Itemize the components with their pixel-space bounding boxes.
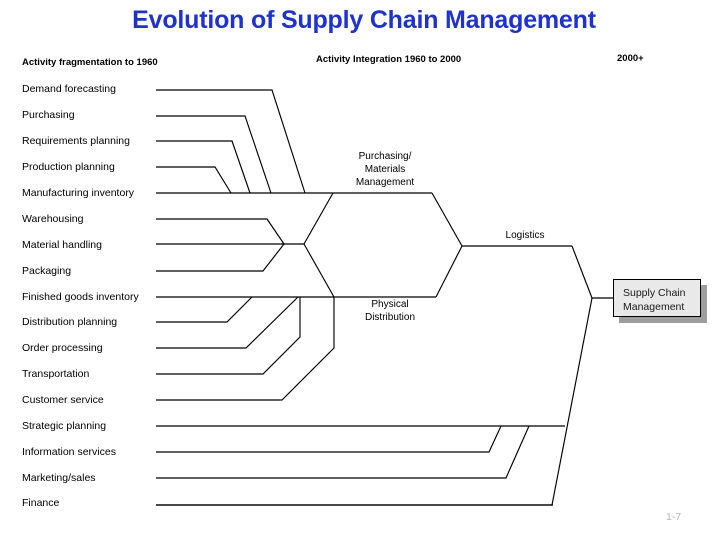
supply-chain-management-text: Supply Chain Management [623, 286, 701, 314]
node-label-pd-line-1: Physical [340, 298, 440, 311]
wire-transportation [156, 297, 300, 374]
wire-packaging [156, 244, 284, 271]
node-label-pmm-line-2: Materials [335, 163, 435, 176]
slide-canvas: Evolution of Supply Chain Management Act… [0, 0, 728, 546]
wire-distribution-planning [156, 297, 252, 322]
wire-warehousing [156, 219, 284, 244]
supply-chain-management-box[interactable]: Supply Chain Management [613, 279, 701, 317]
node-label-logistics: Logistics [480, 229, 570, 242]
scm-line-2: Management [623, 300, 701, 314]
wire-production-planning [156, 167, 231, 193]
wire-purchasing [156, 116, 271, 193]
node-label-pd-line-2: Distribution [340, 311, 440, 324]
hexagon-integration-lower-right-edge [436, 246, 462, 297]
node-label-purchasing-materials-management: Purchasing/ Materials Management [335, 150, 435, 189]
node-label-physical-distribution: Physical Distribution [340, 298, 440, 324]
logistics-upper-right-edge [572, 246, 592, 298]
node-label-pmm-line-3: Management [335, 176, 435, 189]
hexagon-integration-lower-left-edge [304, 244, 334, 297]
hexagon-integration-upper-right-edge [432, 193, 462, 246]
scm-line-1: Supply Chain [623, 286, 701, 300]
wire-information-services [156, 426, 501, 452]
node-label-pmm-line-1: Purchasing/ [335, 150, 435, 163]
page-number: 1-7 [666, 511, 681, 523]
logistics-lower-right-edge [552, 298, 592, 505]
funnel-line-diagram [0, 0, 728, 546]
hexagon-integration-upper-left-edge [304, 193, 333, 244]
